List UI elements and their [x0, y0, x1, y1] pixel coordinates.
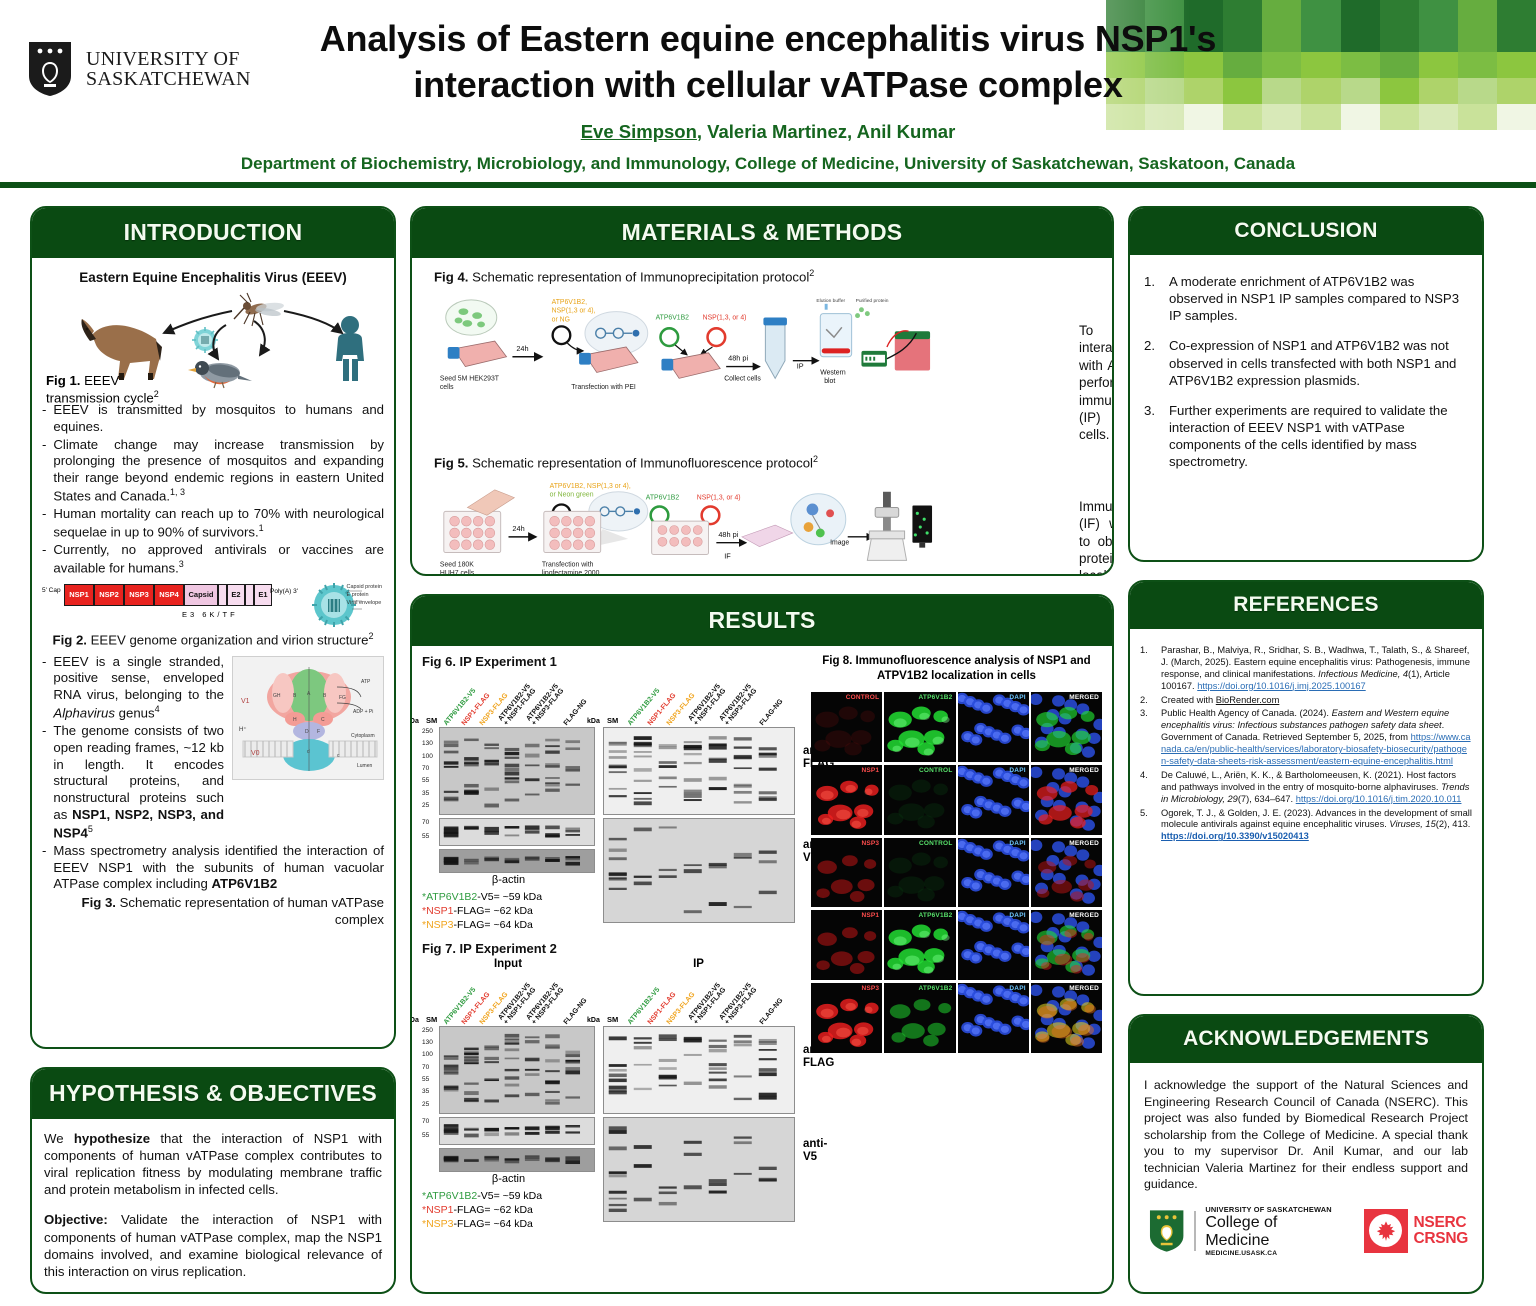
- list-item: -EEEV is transmitted by mosquitos to hum…: [42, 402, 384, 436]
- svg-text:F: F: [317, 729, 320, 735]
- list-item: -Human mortality can reach up to 70% wit…: [42, 506, 384, 541]
- acknowledgements-text: I acknowledge the support of the Natural…: [1144, 1077, 1468, 1193]
- usask-college-shield-icon: [1148, 1209, 1185, 1253]
- college-line3: MEDICINE.USASK.CA: [1205, 1250, 1343, 1257]
- if-row: NSP1CONTROLDAPIMERGED: [811, 765, 1102, 835]
- fig5-description: Immunofluorescence (IF) was performed to…: [1079, 476, 1114, 576]
- svg-text:Transfection with PEI: Transfection with PEI: [571, 384, 636, 391]
- acknowledgements-heading: ACKNOWLEDGEMENTS: [1130, 1016, 1482, 1063]
- introduction-bullets-group-1: -EEEV is transmitted by mosquitos to hum…: [42, 402, 384, 577]
- reference-item: 2.Created with BioRender.com: [1140, 695, 1472, 707]
- ref-text: De Caluwé, L., Ariën, K. K., & Bartholom…: [1161, 770, 1456, 792]
- gel-beta-actin[interactable]: [439, 1148, 595, 1172]
- ladder-value: 55: [422, 1133, 429, 1140]
- bullet-dash: -: [42, 843, 46, 893]
- if-channel-tag: CONTROL: [846, 694, 880, 701]
- svg-text:Western: Western: [820, 369, 846, 376]
- ladder-value: 25: [422, 1102, 429, 1109]
- legend-line: *NSP3-FLAG= ~64 kDa: [422, 1217, 595, 1231]
- fig7-blot-block: kDaSMATP6V1B2-V5NSP1-FLAGNSP3-FLAGATP6V1…: [422, 970, 803, 1232]
- panel-hypothesis: HYPOTHESIS & OBJECTIVES We hypothesize t…: [30, 1067, 396, 1294]
- if-image-cell[interactable]: NSP1: [811, 765, 882, 835]
- if-image-cell[interactable]: ATP6V1B2: [884, 692, 955, 762]
- nserc-logo: NSERC CRSNG: [1364, 1209, 1468, 1253]
- if-channel-tag: CONTROL: [919, 840, 953, 847]
- presenting-author: Eve Simpson: [581, 121, 697, 142]
- nserc-circle: [1369, 1214, 1402, 1247]
- if-image-cell[interactable]: CONTROL: [811, 692, 882, 762]
- ref-number: 1.: [1140, 645, 1153, 693]
- panel-references: REFERENCES 1.Parashar, B., Malviya, R., …: [1128, 580, 1484, 996]
- svg-text:HUH7 cells: HUH7 cells: [440, 570, 475, 576]
- results-heading: RESULTS: [412, 596, 1112, 646]
- kda-label: kDa: [410, 718, 419, 725]
- bullet-dash: -: [42, 723, 46, 842]
- panel-methods: MATERIALS & METHODS Fig 4. Schematic rep…: [410, 206, 1114, 576]
- svg-text:Image: Image: [830, 539, 849, 546]
- if-image-cell[interactable]: MERGED: [1031, 765, 1102, 835]
- results-grid: Fig 6. IP Experiment 1 kDaSMATP6V1B2-V5N…: [422, 654, 1102, 1231]
- gel-anti-flag-ip[interactable]: [603, 1026, 795, 1114]
- fig7-label: Fig 7. IP Experiment 2: [422, 941, 803, 956]
- bullet-text: Mass spectrometry analysis identified th…: [53, 843, 384, 893]
- svg-text:24h: 24h: [512, 524, 524, 533]
- svg-text:IP: IP: [797, 361, 804, 370]
- fig4-row: Seed 5M HEK293T cells 24h ATP6V1B2, NSP(…: [434, 290, 1096, 444]
- if-channel-tag: NSP1: [861, 912, 879, 919]
- if-channel-tag: ATP6V1B2: [919, 985, 953, 992]
- acknowledgements-body: I acknowledge the support of the Natural…: [1130, 1063, 1482, 1292]
- gel-anti-v5-input[interactable]: [439, 818, 595, 846]
- fig8-title-line2: ATPV1B2 localization in cells: [811, 669, 1102, 684]
- fig1-caption: Fig 1. EEEV transmission cycle2: [46, 373, 166, 406]
- svg-text:24h: 24h: [516, 344, 528, 353]
- hypothesis-keyword: hypothesize: [74, 1131, 150, 1146]
- if-channel-tag: DAPI: [1009, 840, 1025, 847]
- bullet-text: The genome consists of two open reading …: [53, 723, 224, 842]
- svg-text:ATP6V1B2: ATP6V1B2: [656, 314, 690, 321]
- if-image-cell[interactable]: ATP6V1B2: [884, 910, 955, 980]
- methods-heading: MATERIALS & METHODS: [412, 208, 1112, 258]
- svg-text:D: D: [305, 729, 309, 735]
- references-list: 1.Parashar, B., Malviya, R., Sridhar, S.…: [1140, 645, 1472, 843]
- if-channel-tag: MERGED: [1069, 694, 1099, 701]
- lane-label-row: kDaSMATP6V1B2-V5NSP1-FLAGNSP3-FLAGATP6V1…: [603, 970, 793, 1026]
- legend-line: *ATP6V1B2-V5= ~59 kDa: [422, 1189, 595, 1203]
- fig4-caption-sup: 2: [809, 268, 814, 278]
- fig5-row: Seed 180K HUH7 cells 24h ATP6V1B2, NSP(1…: [434, 476, 1096, 576]
- svg-text:ATP: ATP: [361, 679, 371, 685]
- list-item: -EEEV is a single stranded, positive sen…: [42, 654, 224, 722]
- ladder-value: 130: [422, 1040, 433, 1047]
- if-channel-tag: CONTROL: [919, 767, 953, 774]
- ref-number: 2.: [1140, 695, 1153, 707]
- panel-acknowledgements: ACKNOWLEDGEMENTS I acknowledge the suppo…: [1128, 1014, 1484, 1294]
- lane-label: FLAG-NG: [759, 698, 785, 727]
- conclusion-item: 3.Further experiments are required to va…: [1144, 402, 1466, 471]
- ref-body: Parashar, B., Malviya, R., Sridhar, S. B…: [1161, 645, 1472, 693]
- if-channel-tag: DAPI: [1009, 694, 1025, 701]
- ladder-value: 55: [422, 834, 429, 841]
- svg-text:d: d: [307, 749, 310, 755]
- ref-link[interactable]: https://doi.org/10.1016/j.tim.2020.10.01…: [1296, 794, 1462, 804]
- svg-text:NSP(1,3, or 4): NSP(1,3, or 4): [697, 494, 741, 501]
- if-image-cell[interactable]: NSP1: [811, 910, 882, 980]
- fig5-caption-sup: 2: [813, 454, 818, 464]
- methods-body: Fig 4. Schematic representation of Immun…: [412, 258, 1112, 576]
- item-number: 3.: [1144, 402, 1160, 471]
- svg-text:V0: V0: [251, 750, 260, 757]
- virion-label: E protein: [347, 591, 382, 599]
- list-item: -Climate change may increase transmissio…: [42, 437, 384, 505]
- gel-beta-actin[interactable]: [439, 849, 595, 873]
- fig5-caption: Fig 5. Schematic representation of Immun…: [434, 454, 1096, 472]
- item-number: 2.: [1144, 337, 1160, 388]
- ladder-value: 55: [422, 778, 429, 785]
- if-channel-tag: DAPI: [1009, 912, 1025, 919]
- genome-segment: NSP2: [94, 584, 124, 606]
- if-channel-tag: NSP3: [861, 985, 879, 992]
- ref-text: Created with: [1161, 695, 1216, 705]
- legend-line: *ATP6V1B2-V5= ~59 kDa: [422, 890, 595, 904]
- ref-body: De Caluwé, L., Ariën, K. K., & Bartholom…: [1161, 770, 1472, 806]
- svg-text:Seed 5M HEK293T: Seed 5M HEK293T: [440, 375, 500, 382]
- item-text: Co-expression of NSP1 and ATP6V1B2 was n…: [1169, 337, 1466, 388]
- list-item: -The genome consists of two open reading…: [42, 723, 224, 842]
- item-text: A moderate enrichment of ATP6V1B2 was ob…: [1169, 273, 1466, 324]
- ref-text2: (2), 413.: [1436, 819, 1471, 829]
- fig4-caption-rest: Schematic representation of Immunoprecip…: [468, 269, 809, 284]
- fig1-transmission-cycle: Fig 1. EEEV transmission cycle2: [42, 287, 384, 402]
- legend-line: *NSP3-FLAG= ~64 kDa: [422, 918, 595, 932]
- ref-link[interactable]: https://doi.org/10.1016/j.imj.2025.10016…: [1197, 681, 1366, 691]
- sm-label: SM: [426, 716, 437, 725]
- if-channel-tag: MERGED: [1069, 985, 1099, 992]
- hypothesis-p1a: We: [44, 1131, 74, 1146]
- if-image-cell[interactable]: MERGED: [1031, 838, 1102, 908]
- fig1-caption-bold: Fig 1.: [46, 373, 80, 388]
- hypothesis-statement: We hypothesize that the interaction of N…: [44, 1130, 382, 1199]
- genome-segment: [218, 584, 227, 606]
- results-body: Fig 6. IP Experiment 1 kDaSMATP6V1B2-V5N…: [412, 646, 1112, 1292]
- svg-text:Transfection with: Transfection with: [542, 561, 594, 568]
- if-channel-tag: MERGED: [1069, 767, 1099, 774]
- conclusion-item: 1.A moderate enrichment of ATP6V1B2 was …: [1144, 273, 1466, 324]
- poster-body: INTRODUCTION Eastern Equine Encephalitis…: [0, 188, 1536, 1306]
- ref-number: 4.: [1140, 770, 1153, 806]
- svg-text:ADP + Pi: ADP + Pi: [353, 709, 373, 715]
- virion-labels: Capsid proteinE proteinViral envelope: [347, 583, 382, 608]
- if-channel-tag: MERGED: [1069, 912, 1099, 919]
- svg-text:ATP6V1B2,: ATP6V1B2,: [552, 299, 587, 306]
- if-image-cell[interactable]: MERGED: [1031, 692, 1102, 762]
- sm-label: SM: [607, 1015, 618, 1024]
- fig2-caption: Fig 2. EEEV genome organization and viri…: [42, 631, 384, 649]
- svg-text:Cytoplasm: Cytoplasm: [351, 733, 375, 739]
- ref-link[interactable]: BioRender.com: [1216, 695, 1280, 705]
- beta-actin-label: β-actin: [422, 874, 595, 886]
- conclusion-list: 1.A moderate enrichment of ATP6V1B2 was …: [1144, 273, 1466, 471]
- fig5-caption-bold: Fig 5.: [434, 455, 468, 470]
- lane-label-row: kDaSMATP6V1B2-V5NSP1-FLAGNSP3-FLAGATP6V1…: [603, 671, 793, 727]
- college-wordmark: UNIVERSITY OF SASKATCHEWAN College of Me…: [1205, 1205, 1343, 1257]
- fig8-title-line1: Fig 8. Immunofluorescence analysis of NS…: [811, 654, 1102, 669]
- fig7-ip-title: IP: [594, 958, 803, 970]
- reference-item: 1.Parashar, B., Malviya, R., Sridhar, S.…: [1140, 645, 1472, 693]
- if-image-cell[interactable]: CONTROL: [884, 765, 955, 835]
- if-image-cell[interactable]: DAPI: [958, 692, 1029, 762]
- if-row: NSP3CONTROLDAPIMERGED: [811, 838, 1102, 908]
- gel-anti-flag-input[interactable]: [439, 727, 595, 815]
- coauthors: , Valeria Martinez, Anil Kumar: [697, 121, 955, 142]
- ip-blot: kDaSMATP6V1B2-V5NSP1-FLAGNSP3-FLAGATP6V1…: [603, 970, 795, 1232]
- ref-body: Created with BioRender.com: [1161, 695, 1279, 707]
- gel-anti-v5-ip[interactable]: [603, 818, 795, 923]
- lane-label-row: kDaSMATP6V1B2-V5NSP1-FLAGNSP3-FLAGATP6V1…: [422, 970, 594, 1026]
- if-image-cell[interactable]: DAPI: [958, 910, 1029, 980]
- bullet-dash: -: [42, 654, 46, 722]
- college-line1: UNIVERSITY OF SASKATCHEWAN: [1205, 1205, 1343, 1214]
- ref-italic: Viruses, 15: [1389, 819, 1435, 829]
- ladder-value: 100: [422, 754, 433, 761]
- svg-text:C: C: [321, 717, 325, 723]
- if-row: CONTROLATP6V1B2DAPIMERGED: [811, 692, 1102, 762]
- college-of-medicine-logo: UNIVERSITY OF SASKATCHEWAN College of Me…: [1148, 1205, 1344, 1257]
- fig6-blot-block: kDaSMATP6V1B2-V5NSP1-FLAGNSP3-FLAGATP6V1…: [422, 671, 803, 933]
- if-channel-tag: ATP6V1B2: [919, 912, 953, 919]
- if-image-cell[interactable]: ATP6V1B2: [884, 983, 955, 1053]
- ladder-value: 250: [422, 1028, 433, 1035]
- svg-text:H: H: [293, 717, 297, 723]
- panel-conclusion: CONCLUSION 1.A moderate enrichment of AT…: [1128, 206, 1484, 562]
- svg-text:GH: GH: [273, 693, 281, 699]
- reference-item: 5.Ogorek, T. J., & Golden, J. E. (2023).…: [1140, 808, 1472, 844]
- genome-segment: NSP1: [64, 584, 94, 606]
- if-image-cell[interactable]: MERGED: [1031, 983, 1102, 1053]
- if-protocol-diagram-icon: Seed 180K HUH7 cells 24h ATP6V1B2, NSP(1…: [434, 476, 934, 576]
- svg-text:H⁺: H⁺: [239, 726, 247, 733]
- ref-number: 5.: [1140, 808, 1153, 844]
- if-row: NSP1ATP6V1B2DAPIMERGED: [811, 910, 1102, 980]
- bullet-text: Currently, no approved antivirals or vac…: [53, 542, 384, 577]
- svg-text:NSP(1,3, or 4): NSP(1,3, or 4): [703, 314, 747, 321]
- fig1-caption-sup: 2: [154, 389, 159, 399]
- gel-anti-flag-ip[interactable]: [603, 727, 795, 815]
- bullet-text: Human mortality can reach up to 70% with…: [53, 506, 384, 541]
- ladder-value: 55: [422, 1077, 429, 1084]
- sponsor-logos: UNIVERSITY OF SASKATCHEWAN College of Me…: [1144, 1205, 1468, 1257]
- if-channel-tag: DAPI: [1009, 985, 1025, 992]
- introduction-body: Eastern Equine Encephalitis Virus (EEEV): [32, 258, 394, 1047]
- fig3-caption-bold: Fig 3.: [82, 895, 116, 910]
- ip-blot: kDaSMATP6V1B2-V5NSP1-FLAGNSP3-FLAGATP6V1…: [603, 671, 795, 933]
- references-heading: REFERENCES: [1130, 582, 1482, 629]
- genome-segment: E2: [227, 584, 245, 606]
- virion-label: Viral envelope: [347, 599, 382, 607]
- fig2-caption-rest: EEEV genome organization and virion stru…: [87, 632, 369, 647]
- list-item: -Currently, no approved antivirals or va…: [42, 542, 384, 577]
- title-block: Analysis of Eastern equine encephalitis …: [0, 0, 1536, 174]
- ladder-value: 35: [422, 1089, 429, 1096]
- introduction-heading: INTRODUCTION: [32, 208, 394, 258]
- kda-label: kDa: [410, 1017, 419, 1024]
- reference-item: 4.De Caluwé, L., Ariën, K. K., & Barthol…: [1140, 770, 1472, 806]
- genome-sub-labels: E3 6K/TF: [182, 610, 238, 619]
- blot-legend: *ATP6V1B2-V5= ~59 kDa*NSP1-FLAG= ~62 kDa…: [422, 1189, 595, 1232]
- objective-label: Objective:: [44, 1212, 108, 1227]
- input-blot: kDaSMATP6V1B2-V5NSP1-FLAGNSP3-FLAGATP6V1…: [422, 671, 595, 933]
- blot-pair: kDaSMATP6V1B2-V5NSP1-FLAGNSP3-FLAGATP6V1…: [422, 970, 803, 1232]
- svg-text:48h pi: 48h pi: [718, 530, 738, 539]
- hypothesis-body: We hypothesize that the interaction of N…: [32, 1119, 394, 1292]
- ladder-value: 100: [422, 1052, 433, 1059]
- fig6-label: Fig 6. IP Experiment 1: [422, 654, 803, 669]
- ladder-value: 70: [422, 1119, 429, 1126]
- svg-text:Purified protein: Purified protein: [856, 298, 889, 304]
- immunofluorescence-column: Fig 8. Immunofluorescence analysis of NS…: [811, 654, 1102, 1231]
- beta-actin-label: β-actin: [422, 1173, 595, 1185]
- svg-text:Lumen: Lumen: [357, 763, 373, 769]
- list-item: -Mass spectrometry analysis identified t…: [42, 843, 384, 893]
- genome-segment: [245, 584, 254, 606]
- if-channel-tag: NSP3: [861, 840, 879, 847]
- ref-italic: Infectious Medicine, 4: [1318, 669, 1408, 679]
- nserc-line1: NSERC: [1414, 1215, 1468, 1231]
- lane-label-row: kDaSMATP6V1B2-V5NSP1-FLAGNSP3-FLAGATP6V1…: [422, 671, 594, 727]
- maple-leaf-icon: [1375, 1220, 1397, 1242]
- ladder-value: 70: [422, 766, 429, 773]
- fig3-caption: Fig 3. Schematic representation of human…: [42, 895, 384, 928]
- fig4-caption: Fig 4. Schematic representation of Immun…: [434, 268, 1096, 286]
- bullet-dash: -: [42, 542, 46, 577]
- if-image-panel: CONTROLATP6V1B2DAPIMERGEDNSP1CONTROLDAPI…: [811, 692, 1102, 1053]
- gel-anti-v5-input[interactable]: [439, 1117, 595, 1145]
- hypothesis-heading: HYPOTHESIS & OBJECTIVES: [32, 1069, 394, 1119]
- fig4-caption-bold: Fig 4.: [434, 269, 468, 284]
- objective-statement: Objective: Validate the interaction of N…: [44, 1211, 382, 1280]
- bullet-text: Climate change may increase transmission…: [53, 437, 384, 505]
- if-channel-tag: NSP1: [861, 767, 879, 774]
- fig4-description: To validate the interaction of NSP1 with…: [1079, 290, 1114, 444]
- lane-label: FLAG-NG: [759, 997, 785, 1026]
- fig7-input-title: Input: [422, 958, 594, 970]
- right-column: CONCLUSION 1.A moderate enrichment of AT…: [1128, 206, 1484, 1294]
- title-line-2: interaction with cellular vATPase comple…: [238, 62, 1298, 108]
- conclusion-body: 1.A moderate enrichment of ATP6V1B2 was …: [1130, 255, 1482, 560]
- ref-link[interactable]: https://doi.org/10.3390/v15020413: [1161, 831, 1309, 841]
- gel-anti-v5-ip[interactable]: [603, 1117, 795, 1222]
- blot-legend: *ATP6V1B2-V5= ~59 kDa*NSP1-FLAG= ~62 kDa…: [422, 890, 595, 933]
- ladder-value: 35: [422, 791, 429, 798]
- bullet-dash: -: [42, 506, 46, 541]
- ladder-value: 70: [422, 820, 429, 827]
- svg-text:ATP6V1B2, NSP(1,3 or 4),: ATP6V1B2, NSP(1,3 or 4),: [550, 483, 631, 490]
- kda-label: kDa: [587, 1017, 600, 1024]
- title-line-1: Analysis of Eastern equine encephalitis …: [238, 16, 1298, 62]
- panel-results: RESULTS Fig 6. IP Experiment 1 kDaSMATP6…: [410, 594, 1114, 1294]
- bullet-dash: -: [42, 437, 46, 505]
- ladder-value: 70: [422, 1065, 429, 1072]
- item-number: 1.: [1144, 273, 1160, 324]
- svg-text:NSP(1,3 or 4),: NSP(1,3 or 4),: [552, 308, 596, 315]
- genome-segment: NSP3: [124, 584, 154, 606]
- legend-line: *NSP1-FLAG= ~62 kDa: [422, 904, 595, 918]
- bullet-dash: -: [42, 402, 46, 436]
- genome-polya-label: Poly(A) 3': [270, 588, 298, 595]
- bullet-text: EEEV is a single stranded, positive sens…: [53, 654, 224, 722]
- svg-text:Seed 180K: Seed 180K: [440, 561, 474, 568]
- lane-label: FLAG-NG: [563, 997, 589, 1026]
- ladder-value: 25: [422, 803, 429, 810]
- fig8-title: Fig 8. Immunofluorescence analysis of NS…: [811, 654, 1102, 684]
- if-image-cell[interactable]: DAPI: [958, 765, 1029, 835]
- blot-pair: kDaSMATP6V1B2-V5NSP1-FLAGNSP3-FLAGATP6V1…: [422, 671, 803, 933]
- left-column: INTRODUCTION Eastern Equine Encephalitis…: [30, 206, 396, 1294]
- if-channel-tag: DAPI: [1009, 767, 1025, 774]
- references-body: 1.Parashar, B., Malviya, R., Sridhar, S.…: [1130, 629, 1482, 994]
- fig5-diagram-wrapper: Seed 180K HUH7 cells 24h ATP6V1B2, NSP(1…: [434, 476, 1069, 576]
- svg-text:ATP6V1B2: ATP6V1B2: [646, 494, 680, 501]
- bullet-text: EEEV is transmitted by mosquitos to huma…: [53, 402, 384, 436]
- college-line2: College of Medicine: [1205, 1214, 1343, 1250]
- affiliation: Department of Biochemistry, Microbiology…: [0, 154, 1536, 174]
- if-image-cell[interactable]: MERGED: [1031, 910, 1102, 980]
- svg-text:cells: cells: [440, 384, 454, 391]
- fig2-caption-sup: 2: [368, 631, 373, 641]
- if-row: NSP3ATP6V1B2DAPIMERGED: [811, 983, 1102, 1053]
- if-image-cell[interactable]: DAPI: [958, 838, 1029, 908]
- svg-text:V1: V1: [241, 698, 250, 705]
- if-image-cell[interactable]: NSP3: [811, 983, 882, 1053]
- nserc-maple-box: [1364, 1209, 1408, 1253]
- if-image-cell[interactable]: NSP3: [811, 838, 882, 908]
- lane-label: FLAG-NG: [563, 698, 589, 727]
- svg-text:blot: blot: [824, 378, 835, 385]
- if-image-cell[interactable]: DAPI: [958, 983, 1029, 1053]
- conclusion-heading: CONCLUSION: [1130, 208, 1482, 255]
- gel-anti-flag-input[interactable]: [439, 1026, 595, 1114]
- ladder-value: 250: [422, 729, 433, 736]
- fig2-caption-bold: Fig 2.: [53, 632, 87, 647]
- svg-text:lipofectamine 2000: lipofectamine 2000: [542, 570, 600, 576]
- middle-column: MATERIALS & METHODS Fig 4. Schematic rep…: [410, 206, 1114, 1294]
- introduction-subtitle: Eastern Equine Encephalitis Virus (EEEV): [42, 270, 384, 285]
- nserc-wordmark: NSERC CRSNG: [1414, 1215, 1468, 1246]
- logo-divider-2: [1194, 1211, 1196, 1251]
- ladder-value: 130: [422, 741, 433, 748]
- fig3-caption-rest: Schematic representation of human vATPas…: [116, 895, 384, 927]
- ref-text2: (7), 634–647.: [1238, 794, 1296, 804]
- input-blot: kDaSMATP6V1B2-V5NSP1-FLAGNSP3-FLAGATP6V1…: [422, 970, 595, 1232]
- if-channel-tag: ATP6V1B2: [919, 694, 953, 701]
- ref-body: Public Health Agency of Canada. (2024). …: [1161, 708, 1472, 767]
- if-image-cell[interactable]: CONTROL: [884, 838, 955, 908]
- poster-header: UNIVERSITY OF SASKATCHEWAN Analysis of E…: [0, 0, 1536, 188]
- sm-label: SM: [607, 716, 618, 725]
- fig5-caption-rest: Schematic representation of Immunofluore…: [468, 455, 813, 470]
- kda-label: kDa: [587, 718, 600, 725]
- legend-line: *NSP1-FLAG= ~62 kDa: [422, 1203, 595, 1217]
- fig4-diagram-wrapper: Seed 5M HEK293T cells 24h ATP6V1B2, NSP(…: [434, 290, 1069, 405]
- fig3-vatpase-image: V1V0ATPADP + PiH⁺CytoplasmLumenBABHCDFdc…: [232, 656, 384, 780]
- reference-item: 3.Public Health Agency of Canada. (2024)…: [1140, 708, 1472, 767]
- conclusion-item: 2.Co-expression of NSP1 and ATP6V1B2 was…: [1144, 337, 1466, 388]
- svg-text:or Neon green: or Neon green: [550, 491, 594, 498]
- ref-text: Public Health Agency of Canada. (2024).: [1161, 708, 1332, 718]
- svg-text:Collect cells: Collect cells: [724, 375, 761, 382]
- genome-segment: Capsid: [184, 584, 218, 606]
- ref-number: 3.: [1140, 708, 1153, 767]
